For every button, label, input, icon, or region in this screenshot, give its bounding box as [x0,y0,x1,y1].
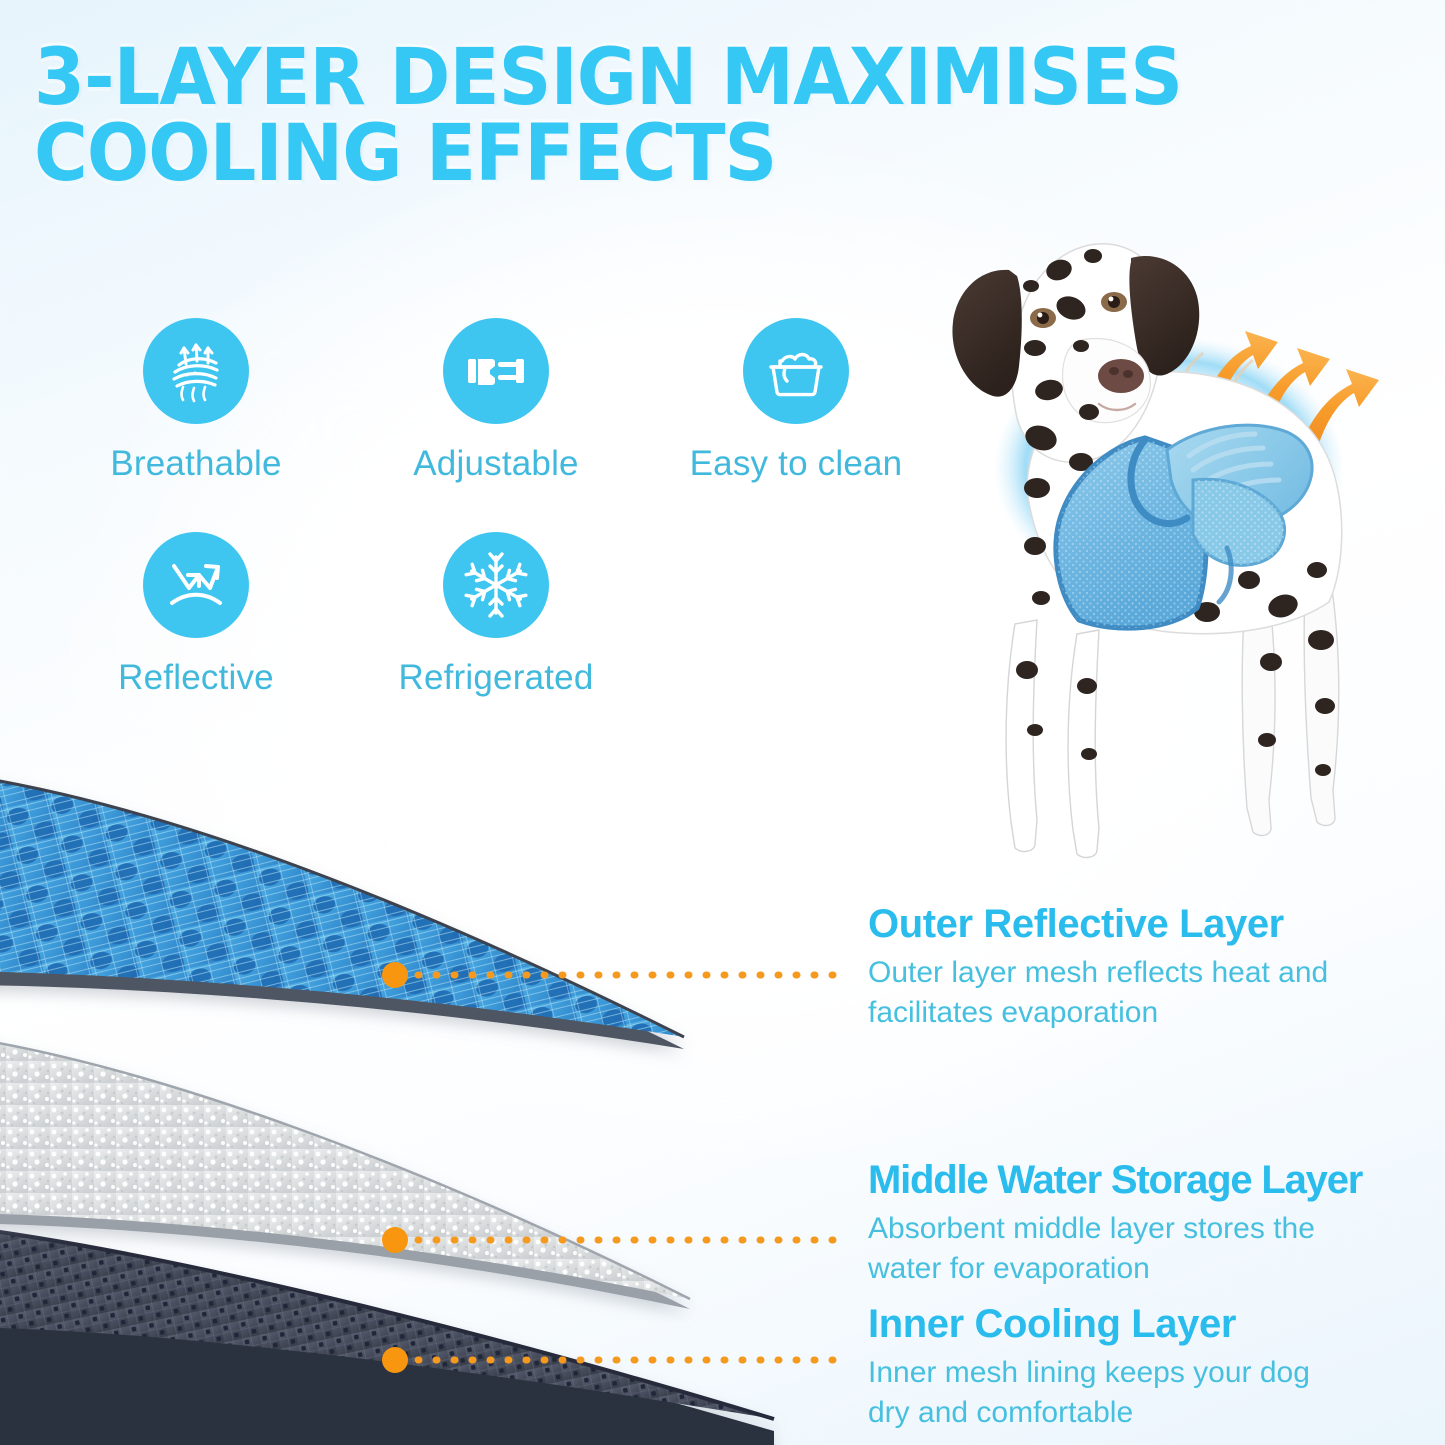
layer-sheet-outer [0,775,684,1049]
title-line-1: 3-Layer Design Maximises [34,40,1087,116]
buckle-icon [443,318,549,424]
fabric-layer-stack [0,731,884,1445]
feature-reflective: Reflective [46,532,346,698]
product-photo [931,150,1431,870]
dog-ear-left [952,270,1021,397]
feature-refrigerated: Refrigerated [346,532,646,698]
snowflake-icon [443,532,549,638]
feature-label: Adjustable [413,444,578,484]
callout-heading: Outer Reflective Layer [868,902,1445,947]
callout-body: Outer layer mesh reflects heat and facil… [868,953,1338,1033]
feature-row-2: Reflective [46,532,946,698]
callout-outer-reflective-layer: Outer Reflective Layer Outer layer mesh … [868,902,1445,1033]
dalmatian-dog-illustration [931,150,1431,870]
feature-adjustable: Adjustable [346,318,646,484]
feature-easy-to-clean: Easy to clean [646,318,946,484]
layer-diagram [0,731,884,1445]
feature-label: Breathable [110,444,281,484]
reflect-arrows-icon [143,532,249,638]
callout-heading: Inner Cooling Layer [868,1302,1445,1347]
callout-heading: Middle Water Storage Layer [868,1158,1445,1203]
callout-middle-water-storage-layer: Middle Water Storage Layer Absorbent mid… [868,1158,1445,1289]
feature-spacer [646,532,946,698]
layer-sheet-inner [0,1227,774,1445]
feature-list: Breathable Adjustable [46,318,946,698]
title-line-2: Cooling Effects [34,116,1087,192]
callout-inner-cooling-layer: Inner Cooling Layer Inner mesh lining ke… [868,1302,1445,1433]
breathable-fabric-icon [143,318,249,424]
callout-body: Absorbent middle layer stores the water … [868,1209,1338,1289]
feature-breathable: Breathable [46,318,346,484]
feature-label: Refrigerated [398,658,593,698]
callout-body: Inner mesh lining keeps your dog dry and… [868,1353,1338,1433]
feature-label: Easy to clean [690,444,903,484]
feature-label: Reflective [118,658,274,698]
dog-nose [1098,359,1144,393]
wash-basin-icon [743,318,849,424]
feature-row-1: Breathable Adjustable [46,318,946,484]
